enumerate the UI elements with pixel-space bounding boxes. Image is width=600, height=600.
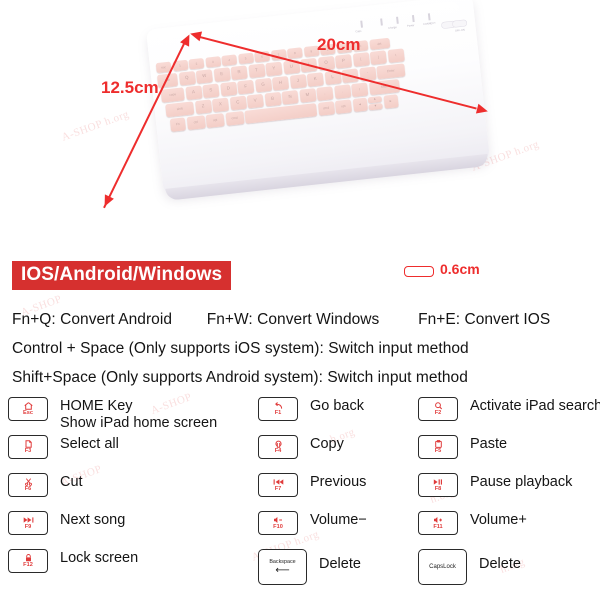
product-photo: Caps Charge Power CONNECT OFF-ON esc 1 2…	[0, 0, 600, 258]
key-v: V	[247, 94, 264, 109]
shortcut-row: F3 Select all F4 Copy F5	[8, 434, 594, 472]
key-arrow-down: ▼	[368, 103, 383, 110]
shortcut-row: F6 Cut F7 Previous F8	[8, 472, 594, 510]
power-switch	[452, 19, 468, 28]
key-slash: /	[351, 82, 368, 97]
keycap-f2: F2	[418, 397, 458, 421]
keycap-label: F1	[275, 410, 282, 416]
keycap-f6: F6	[8, 473, 48, 497]
key-f: F	[237, 80, 254, 95]
shortcut-row: Esc HOME Key Show iPad home screen F1 Go…	[8, 396, 594, 434]
shortcut-description: Copy	[310, 434, 344, 453]
shortcut-item-f5: F5 Paste	[418, 434, 594, 472]
key-fn: Fn	[170, 117, 186, 132]
shortcut-description: Volume−	[310, 510, 367, 529]
scissors-icon	[24, 478, 33, 486]
key-4: 4	[221, 54, 237, 66]
key-arrow-left: ◄	[352, 98, 367, 112]
key-g: G	[254, 78, 271, 93]
key-q: Q	[178, 71, 195, 86]
key-arrow-right: ►	[383, 94, 398, 108]
keycap-f10: F10	[258, 511, 298, 535]
control-space-line: Control + Space (Only supports iOS syste…	[12, 340, 469, 358]
shortcut-item-f10: F10 Volume−	[258, 510, 418, 548]
shortcut-description: Go back	[310, 396, 364, 415]
key-t: T	[248, 63, 265, 78]
charge-indicator-label: Charge	[388, 26, 397, 30]
height-dimension-label: 12.5cm	[101, 78, 159, 98]
shortcut-item-f7: F7 Previous	[258, 472, 418, 510]
key-m: M	[299, 88, 316, 103]
fn-convert-ios: Fn+E: Convert IOS	[418, 311, 550, 329]
home-icon	[24, 402, 33, 410]
shortcut-item-f8: F8 Pause playback	[418, 472, 594, 510]
key-n: N	[281, 90, 298, 105]
keycap-label: F2	[435, 410, 442, 416]
key-option-left: opt	[206, 113, 225, 128]
key-bracket-right: ]	[370, 50, 387, 65]
keycap-f5: F5	[418, 435, 458, 459]
key-comma: ,	[316, 86, 333, 101]
key-h: H	[272, 76, 289, 91]
shortcut-item-f2: F2 Activate iPad search	[418, 396, 594, 434]
fn-convert-windows: Fn+W: Convert Windows	[207, 311, 380, 329]
power-indicator-label: Power	[407, 24, 415, 28]
keycap-label: F10	[273, 524, 283, 530]
shortcut-item-backspace: Backspace ⟵ Delete	[258, 548, 418, 590]
next-track-icon	[23, 516, 34, 524]
keycap-backspace: Backspace ⟵	[258, 549, 307, 585]
keycap-label: F5	[435, 448, 442, 454]
key-c: C	[229, 96, 246, 111]
key-8: 8	[287, 47, 303, 59]
volume-up-icon	[433, 516, 444, 524]
key-s: S	[202, 84, 219, 99]
shift-space-line: Shift+Space (Only supports Android syste…	[12, 369, 468, 387]
shortcut-desc-line2: Show iPad home screen	[60, 415, 217, 432]
key-d: D	[220, 82, 237, 97]
shortcut-item-f1: F1 Go back	[258, 396, 418, 434]
key-command-left: cmd	[225, 111, 244, 126]
key-e: E	[213, 67, 230, 82]
key-enter: Enter	[376, 63, 405, 79]
go-back-icon	[274, 402, 283, 410]
key-control: ctrl	[186, 115, 205, 130]
key-j: J	[289, 74, 306, 89]
shortcut-grid: Esc HOME Key Show iPad home screen F1 Go…	[8, 396, 594, 590]
compatibility-banner: IOS/Android/Windows	[12, 261, 231, 290]
search-icon	[434, 402, 443, 410]
paste-icon	[434, 440, 443, 448]
shortcut-description: Cut	[60, 472, 83, 491]
keycap-label: CapsLock	[429, 564, 456, 570]
key-delete: del	[369, 38, 390, 50]
thickness-swatch-icon	[404, 266, 434, 277]
shortcut-desc-line1: HOME Key	[60, 398, 133, 414]
keycap-label: Esc	[23, 410, 33, 416]
key-y: Y	[265, 62, 282, 77]
shortcut-item-f6: F6 Cut	[8, 472, 258, 510]
keycap-f7: F7	[258, 473, 298, 497]
keycap-label: F9	[25, 524, 32, 530]
shortcut-description: Activate iPad search	[470, 396, 600, 415]
key-5: 5	[238, 53, 254, 65]
keycap-esc: Esc	[8, 397, 48, 421]
keycap-f1: F1	[258, 397, 298, 421]
thickness-dimension-label: 0.6cm	[440, 261, 480, 277]
keycap-f11: F11	[418, 511, 458, 535]
keycap-f4: F4	[258, 435, 298, 459]
shortcut-item-f12: F12 Lock screen	[8, 548, 258, 590]
key-w: W	[196, 69, 213, 84]
key-shift-left: shift	[165, 101, 194, 117]
keycap-f8: F8	[418, 473, 458, 497]
shortcut-description: Pause playback	[470, 472, 572, 491]
shortcut-row: F12 Lock screen Backspace ⟵ Delete CapsL…	[8, 548, 594, 590]
keycap-f12: F12	[8, 549, 48, 573]
key-a: A	[185, 85, 202, 100]
shortcut-item-f3: F3 Select all	[8, 434, 258, 472]
key-k: K	[307, 72, 324, 87]
keycap-label: F3	[25, 448, 32, 454]
shortcut-description: Volume+	[470, 510, 527, 529]
shortcut-description: HOME Key Show iPad home screen	[60, 396, 217, 432]
keycap-f9: F9	[8, 511, 48, 535]
shortcut-description: Previous	[310, 472, 366, 491]
select-all-icon	[24, 440, 33, 448]
backspace-arrow-icon: ⟵	[275, 566, 289, 575]
key-z: Z	[194, 99, 211, 114]
shortcut-item-f4: F4 Copy	[258, 434, 418, 472]
shortcut-description: Paste	[470, 434, 507, 453]
width-dimension-label: 20cm	[317, 35, 360, 55]
shortcut-item-capslock: CapsLock Delete	[418, 548, 594, 590]
shortcut-description: Select all	[60, 434, 119, 453]
key-x: X	[212, 98, 229, 113]
key-3: 3	[205, 56, 221, 68]
shortcut-description: Delete	[479, 548, 521, 573]
shortcut-description: Delete	[319, 548, 361, 573]
shortcut-description: Next song	[60, 510, 125, 529]
play-pause-icon	[433, 478, 443, 486]
shortcut-item-f11: F11 Volume+	[418, 510, 594, 548]
key-capslock: caps	[161, 87, 185, 102]
keycap-label: F12	[23, 562, 33, 568]
key-p: P	[335, 54, 352, 69]
key-b: B	[264, 92, 281, 107]
connect-indicator-label: CONNECT	[423, 22, 436, 26]
keycap-f3: F3	[8, 435, 48, 459]
fn-convert-line: Fn+Q: Convert Android Fn+W: Convert Wind…	[12, 311, 550, 329]
key-r: R	[231, 65, 248, 80]
shortcut-item-f9: F9 Next song	[8, 510, 258, 548]
keycap-label: F11	[433, 524, 442, 530]
keycap-label: F6	[25, 486, 32, 492]
keycap-label: F8	[435, 486, 442, 492]
key-command-right: cmd	[317, 101, 334, 116]
lock-icon	[24, 554, 33, 562]
product-infographic: A-SHOP h.org A-SHOP h.org A-SHOP h.org A…	[0, 0, 600, 600]
keycap-label: F4	[275, 448, 282, 454]
keycap-capslock: CapsLock	[418, 549, 467, 585]
copy-icon	[274, 440, 283, 448]
keycap-label: F7	[275, 486, 282, 492]
key-backslash: \	[387, 48, 404, 63]
key-2: 2	[188, 58, 204, 70]
fn-convert-android: Fn+Q: Convert Android	[12, 311, 172, 329]
shortcut-item-esc: Esc HOME Key Show iPad home screen	[8, 396, 258, 434]
volume-down-icon	[273, 516, 284, 524]
key-option-right: opt	[335, 99, 352, 114]
key-period: .	[334, 84, 351, 99]
shortcut-description: Lock screen	[60, 548, 138, 567]
shortcut-row: F9 Next song F10 Volume− F11	[8, 510, 594, 548]
caps-indicator-label: Caps	[355, 30, 361, 34]
previous-track-icon	[273, 478, 284, 486]
